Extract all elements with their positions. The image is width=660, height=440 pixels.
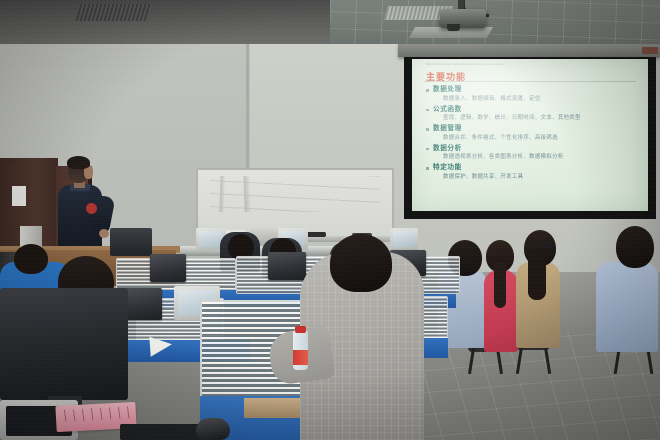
- monitor: [150, 254, 186, 282]
- monitor: [0, 288, 128, 400]
- student-body: [596, 262, 658, 352]
- monitor: [268, 252, 306, 280]
- presenter-hair: [67, 156, 90, 169]
- screen-roller-housing: [398, 44, 660, 57]
- bottle-cap: [295, 326, 306, 333]
- student-head: [616, 226, 654, 268]
- wall-paper-notice: [12, 186, 26, 206]
- presenter-hand: [99, 229, 109, 238]
- monitor-screen: [393, 231, 415, 247]
- air-vent-icon: [76, 4, 153, 21]
- presenter-shirt-logo: [86, 203, 97, 214]
- monitor: [110, 228, 152, 256]
- whiteboard-writing: [210, 176, 380, 212]
- student-head: [330, 234, 392, 292]
- classroom-photo: Microsoft Excel Data Management and Anal…: [0, 0, 660, 440]
- screen-housing-cap: [642, 47, 658, 54]
- student-hair: [528, 250, 546, 300]
- computer-mouse: [196, 418, 230, 440]
- paper-note-icon: [149, 335, 172, 356]
- glasses-icon: [542, 243, 552, 248]
- projector-lens-icon: [447, 24, 460, 31]
- student-head: [14, 244, 48, 274]
- ceiling-tile-grid: [330, 0, 660, 46]
- screen-glare: [412, 59, 648, 211]
- bottle-label: [293, 350, 308, 365]
- student-hair: [494, 262, 506, 308]
